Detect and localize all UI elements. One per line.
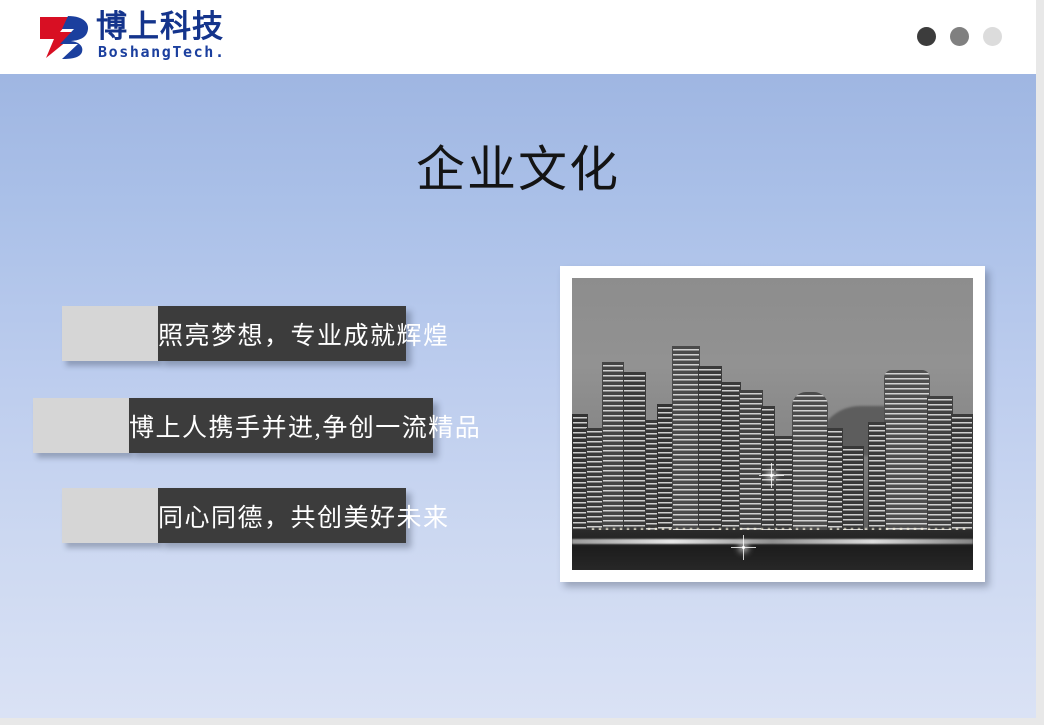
slide-header: 博上科技 BoshangTech. [0,0,1036,74]
photo-light-starburst [742,546,745,549]
photo-building [623,372,646,532]
logo-text-chinese: 博上科技 [96,11,224,44]
photo-building [827,428,843,532]
photo-building [698,366,722,532]
photo-building [842,446,864,532]
photo-building [761,406,775,532]
logo-text-english: BoshangTech. [98,43,226,61]
header-dot-2 [950,27,969,46]
slogan-label-2: 博上人携手并进,争创一流精品 [129,408,433,444]
photo-foreground [572,530,973,570]
slogan-bar-body-2: 博上人携手并进,争创一流精品 [129,398,433,453]
photo-building [721,382,741,532]
photo-building [775,436,793,532]
slogan-bar-body-3: 同心同德，共创美好未来 [158,488,406,543]
photo-building [927,396,953,532]
photo-building [951,414,973,532]
photo-building [868,422,886,532]
slogan-label-3: 同心同德，共创美好未来 [158,498,406,534]
photo-light-starburst [770,474,773,477]
page-title: 企业文化 [0,130,1036,201]
boshang-logo-mark [38,13,92,61]
slogan-label-1: 照亮梦想，专业成就辉煌 [158,316,406,352]
slogan-bar-tab-1 [62,306,158,361]
photo-building [602,362,624,532]
slogan-bar-tab-2 [33,398,129,453]
photo-building [672,346,700,532]
photo-building [739,390,763,532]
slide-body: 企业文化 照亮梦想，专业成就辉煌 博上人携手并进,争创一流精品 同心同德，共创美… [0,74,1036,718]
slogan-bar-body-1: 照亮梦想，专业成就辉煌 [158,306,406,361]
company-logo: 博上科技 BoshangTech. [38,11,268,63]
photo-frame [560,266,985,582]
header-dot-group [917,27,1002,46]
photo-building [792,392,828,532]
presentation-slide: 博上科技 BoshangTech. 企业文化 照亮梦想，专业成就辉煌 博上人携手… [0,0,1036,718]
header-dot-3 [983,27,1002,46]
slogan-bar-tab-3 [62,488,158,543]
photo-building [884,370,930,532]
city-skyline-night-photo [572,278,973,570]
photo-road-lights [572,539,973,544]
header-dot-1 [917,27,936,46]
